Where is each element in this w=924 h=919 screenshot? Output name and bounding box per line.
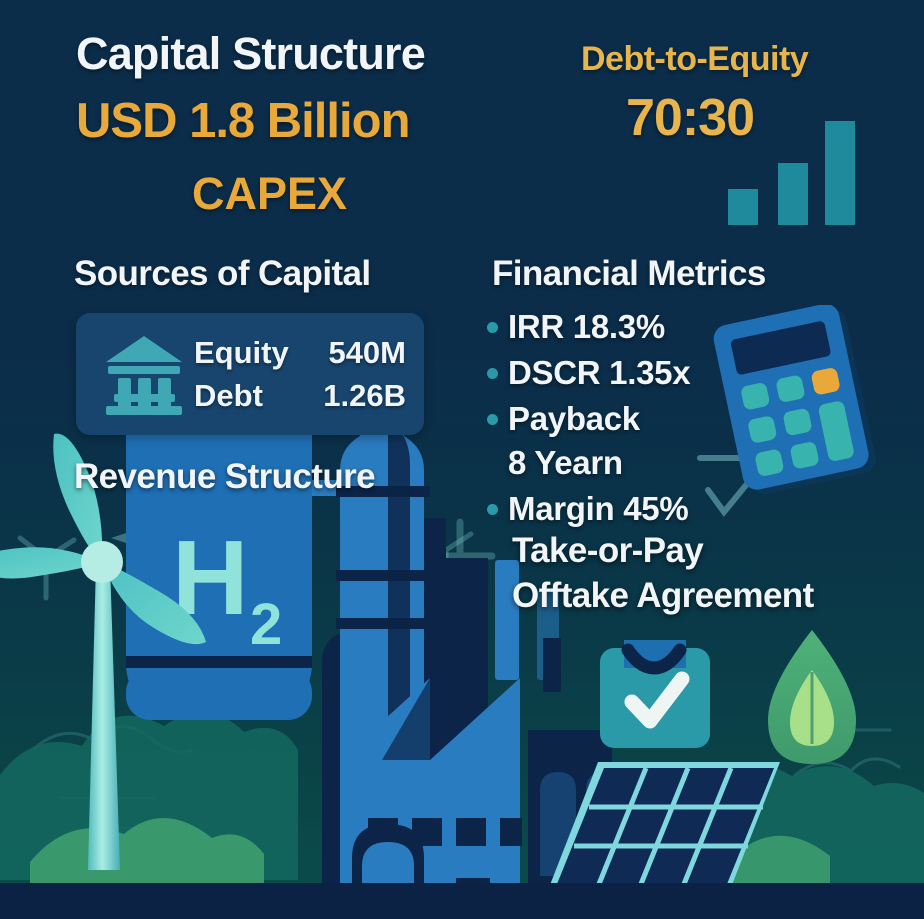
bar-tall (825, 121, 855, 225)
debt-label: Debt (194, 374, 263, 417)
financial-metrics-heading: Financial Metrics (492, 254, 766, 294)
infographic-poster: H 2 (0, 0, 924, 919)
metric-margin: Margin 45% (508, 487, 688, 531)
capital-row-debt: Debt 1.26B (194, 374, 406, 417)
illustration-scene: H 2 (0, 430, 924, 919)
list-item: IRR 18.3% (487, 305, 690, 349)
bar-medium (778, 163, 808, 225)
sources-of-capital-heading: Sources of Capital (74, 254, 371, 294)
sources-of-capital-card: Equity 540M Debt 1.26B (76, 313, 424, 435)
capital-rows: Equity 540M Debt 1.26B (194, 331, 406, 417)
equity-value: 540M (328, 331, 406, 374)
bullet-dot-icon (487, 368, 498, 379)
bullet-dot-icon (487, 322, 498, 333)
list-item: DSCR 1.35x (487, 351, 690, 395)
debt-value: 1.26B (323, 374, 406, 417)
list-item: Margin 45% (487, 487, 690, 531)
revenue-structure-heading: Revenue Structure (74, 457, 375, 497)
list-item: Payback 8 Yearn (487, 397, 690, 485)
bank-icon (102, 332, 186, 416)
debt-to-equity-label: Debt-to-Equity (581, 40, 808, 79)
metric-irr: IRR 18.3% (508, 305, 665, 349)
svg-text:2: 2 (250, 592, 282, 657)
metric-dscr: DSCR 1.35x (508, 351, 690, 395)
offtake-agreement-text: Take-or-Pay Offtake Agreement (512, 528, 814, 618)
bottom-ground-bar (0, 883, 924, 919)
page-title: Capital Structure (76, 28, 425, 80)
bullet-dot-icon (487, 504, 498, 515)
bar-small (728, 189, 758, 225)
bullet-dot-icon (487, 414, 498, 425)
financial-metrics-list: IRR 18.3% DSCR 1.35x Payback 8 Yearn Mar… (487, 305, 690, 533)
capex-label: CAPEX (192, 168, 347, 220)
leaf-icon (768, 630, 856, 764)
capex-amount: USD 1.8 Billion (76, 93, 410, 149)
metric-payback: Payback 8 Yearn (508, 397, 640, 485)
capital-row-equity: Equity 540M (194, 331, 406, 374)
bar-chart-icon (724, 115, 854, 225)
clipboard-check-icon (600, 640, 710, 748)
offtake-line-1: Take-or-Pay (512, 528, 814, 573)
calculator-icon (700, 305, 900, 495)
offtake-line-2: Offtake Agreement (512, 573, 814, 618)
equity-label: Equity (194, 331, 289, 374)
